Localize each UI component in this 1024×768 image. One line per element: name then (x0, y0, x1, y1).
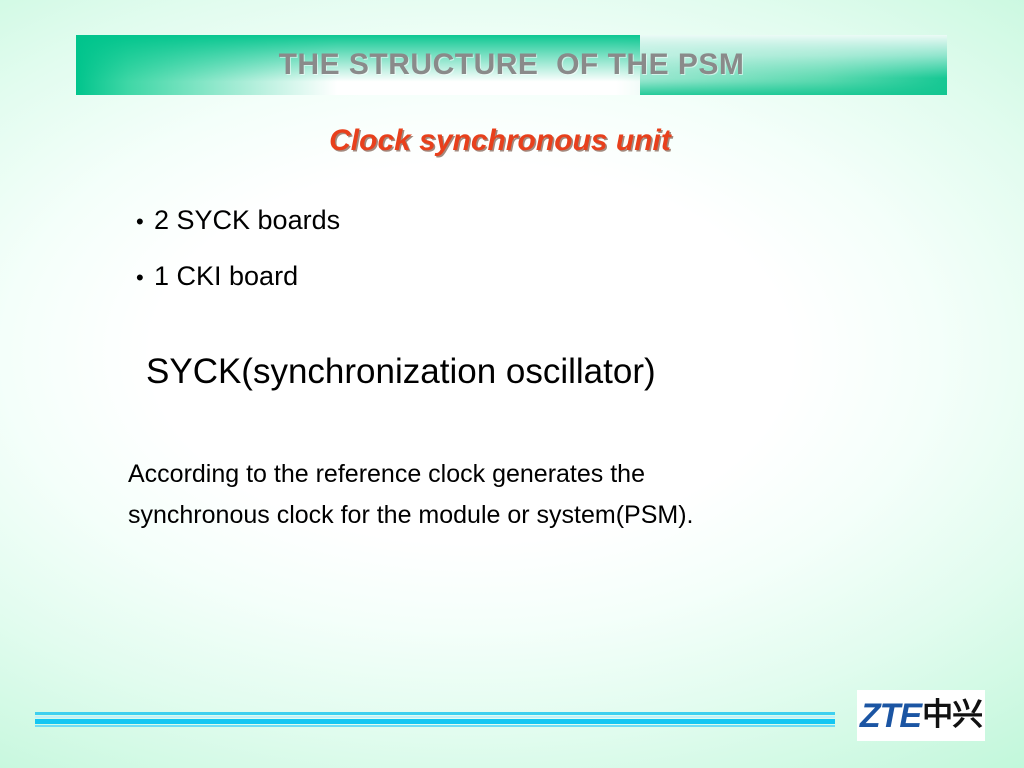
list-item: • 2 SYCK boards (136, 205, 776, 236)
slide-title: THE STRUCTURE OF THE PSM (76, 35, 947, 95)
zte-logo: ZTE 中兴 (857, 690, 985, 741)
bullet-label: 2 SYCK boards (154, 205, 340, 236)
list-item: • 1 CKI board (136, 261, 776, 292)
footer-rule-line (35, 719, 835, 724)
zte-logo-latin-text: ZTE (860, 699, 921, 733)
bullet-list: • 2 SYCK boards • 1 CKI board (136, 205, 776, 317)
bullet-dot-icon: • (136, 211, 154, 233)
footer-rule-line (35, 712, 835, 715)
paragraph-line: synchronous clock for the module or syst… (128, 495, 908, 536)
footer-rule-line (35, 716, 835, 718)
bullet-label: 1 CKI board (154, 261, 298, 292)
slide-subtitle: Clock synchronous unit (0, 124, 1000, 158)
footer-rule-group (35, 712, 835, 729)
paragraph-line: According to the reference clock generat… (128, 454, 908, 495)
section-heading: SYCK(synchronization oscillator) (146, 352, 656, 392)
slide-canvas: THE STRUCTURE OF THE PSM Clock synchrono… (0, 0, 1024, 768)
footer-rule-line (35, 725, 835, 727)
zte-logo-cjk-text: 中兴 (922, 700, 982, 731)
body-paragraph: According to the reference clock generat… (128, 454, 908, 536)
zte-logo-inner: ZTE 中兴 (860, 699, 982, 733)
bullet-dot-icon: • (136, 267, 154, 289)
